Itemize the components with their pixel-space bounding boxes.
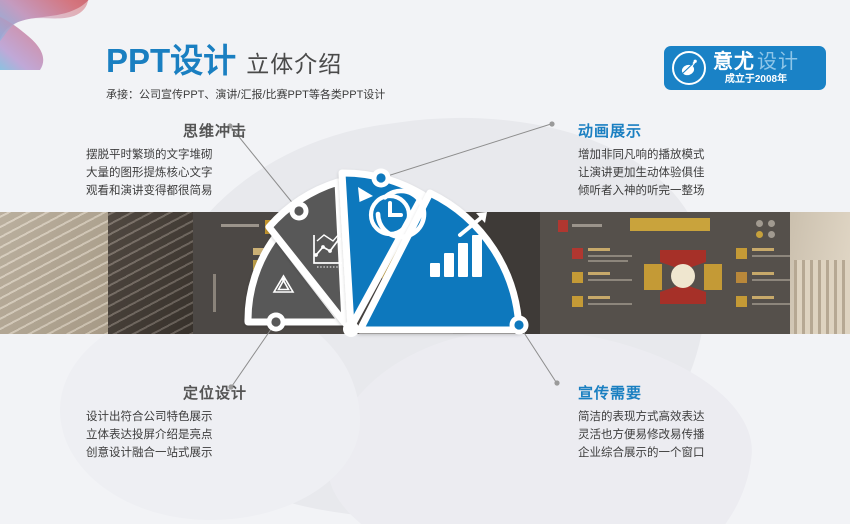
callout-heading: 思维冲击 — [86, 120, 316, 141]
page-subtitle: 承接：公司宣传PPT、演讲/汇报/比赛PPT等各类PPT设计 — [106, 86, 385, 102]
page-title-sub: 立体介绍 — [246, 53, 342, 77]
logo-brand-secondary: 设计 — [757, 52, 799, 72]
callout-line-1: 简洁的表现方式高效表达 — [578, 409, 818, 427]
callout-line-2: 灵活也方便易修改易传播 — [578, 427, 818, 445]
callout-line-1: 设计出符合公司特色展示 — [86, 409, 316, 427]
mouse-pointer-circle-icon — [672, 51, 706, 85]
logo-brand-primary: 意尤 — [713, 52, 755, 72]
callout-line-1: 增加非同凡响的播放模式 — [578, 147, 818, 165]
callout-heading: 宣传需要 — [578, 382, 818, 403]
callout-line-1: 摆脱平时繁琐的文字堆砌 — [86, 147, 316, 165]
callout-line-3: 企业综合展示的一个窗口 — [578, 445, 818, 463]
callout-heading: 动画展示 — [578, 120, 818, 141]
callout-line-3: 创意设计融合一站式展示 — [86, 445, 316, 463]
callout-dingwei: 定位设计 设计出符合公司特色展示 立体表达投屏介绍是亮点 创意设计融合一站式展示 — [86, 382, 316, 462]
wood-texture-light — [0, 212, 108, 334]
logo-text: 意尤 设计 成立于2008年 — [713, 52, 799, 85]
building-photo — [790, 212, 850, 334]
title-row: PPT设计 立体介绍 — [106, 44, 385, 77]
callout-line-2: 大量的图形提炼核心文字 — [86, 165, 316, 183]
callout-line-2: 立体表达投屏介绍是亮点 — [86, 427, 316, 445]
callout-heading: 定位设计 — [86, 382, 316, 403]
logo-brand-line: 意尤 设计 — [713, 52, 799, 72]
brand-logo[interactable]: 意尤 设计 成立于2008年 — [664, 46, 826, 90]
callout-line-3: 倾听者入神的听完一整场 — [578, 183, 818, 201]
callout-line-2: 让演讲更加生动体验俱佳 — [578, 165, 818, 183]
poster-canvas: PPT设计 立体介绍 承接：公司宣传PPT、演讲/汇报/比赛PPT等各类PPT设… — [0, 0, 850, 524]
callout-donghua: 动画展示 增加非同凡响的播放模式 让演讲更加生动体验俱佳 倾听者入神的听完一整场 — [578, 120, 818, 200]
wood-texture-dark — [108, 212, 193, 334]
page-title-main: PPT设计 — [106, 44, 236, 77]
callout-xuanchuan: 宣传需要 简洁的表现方式高效表达 灵活也方便易修改易传播 企业综合展示的一个窗口 — [578, 382, 818, 462]
callout-line-3: 观看和演讲变得都很简易 — [86, 183, 316, 201]
page-header: PPT设计 立体介绍 承接：公司宣传PPT、演讲/汇报/比赛PPT等各类PPT设… — [106, 44, 385, 102]
callout-siwei: 思维冲击 摆脱平时繁琐的文字堆砌 大量的图形提炼核心文字 观看和演讲变得都很简易 — [86, 120, 316, 200]
logo-established: 成立于2008年 — [713, 75, 799, 85]
